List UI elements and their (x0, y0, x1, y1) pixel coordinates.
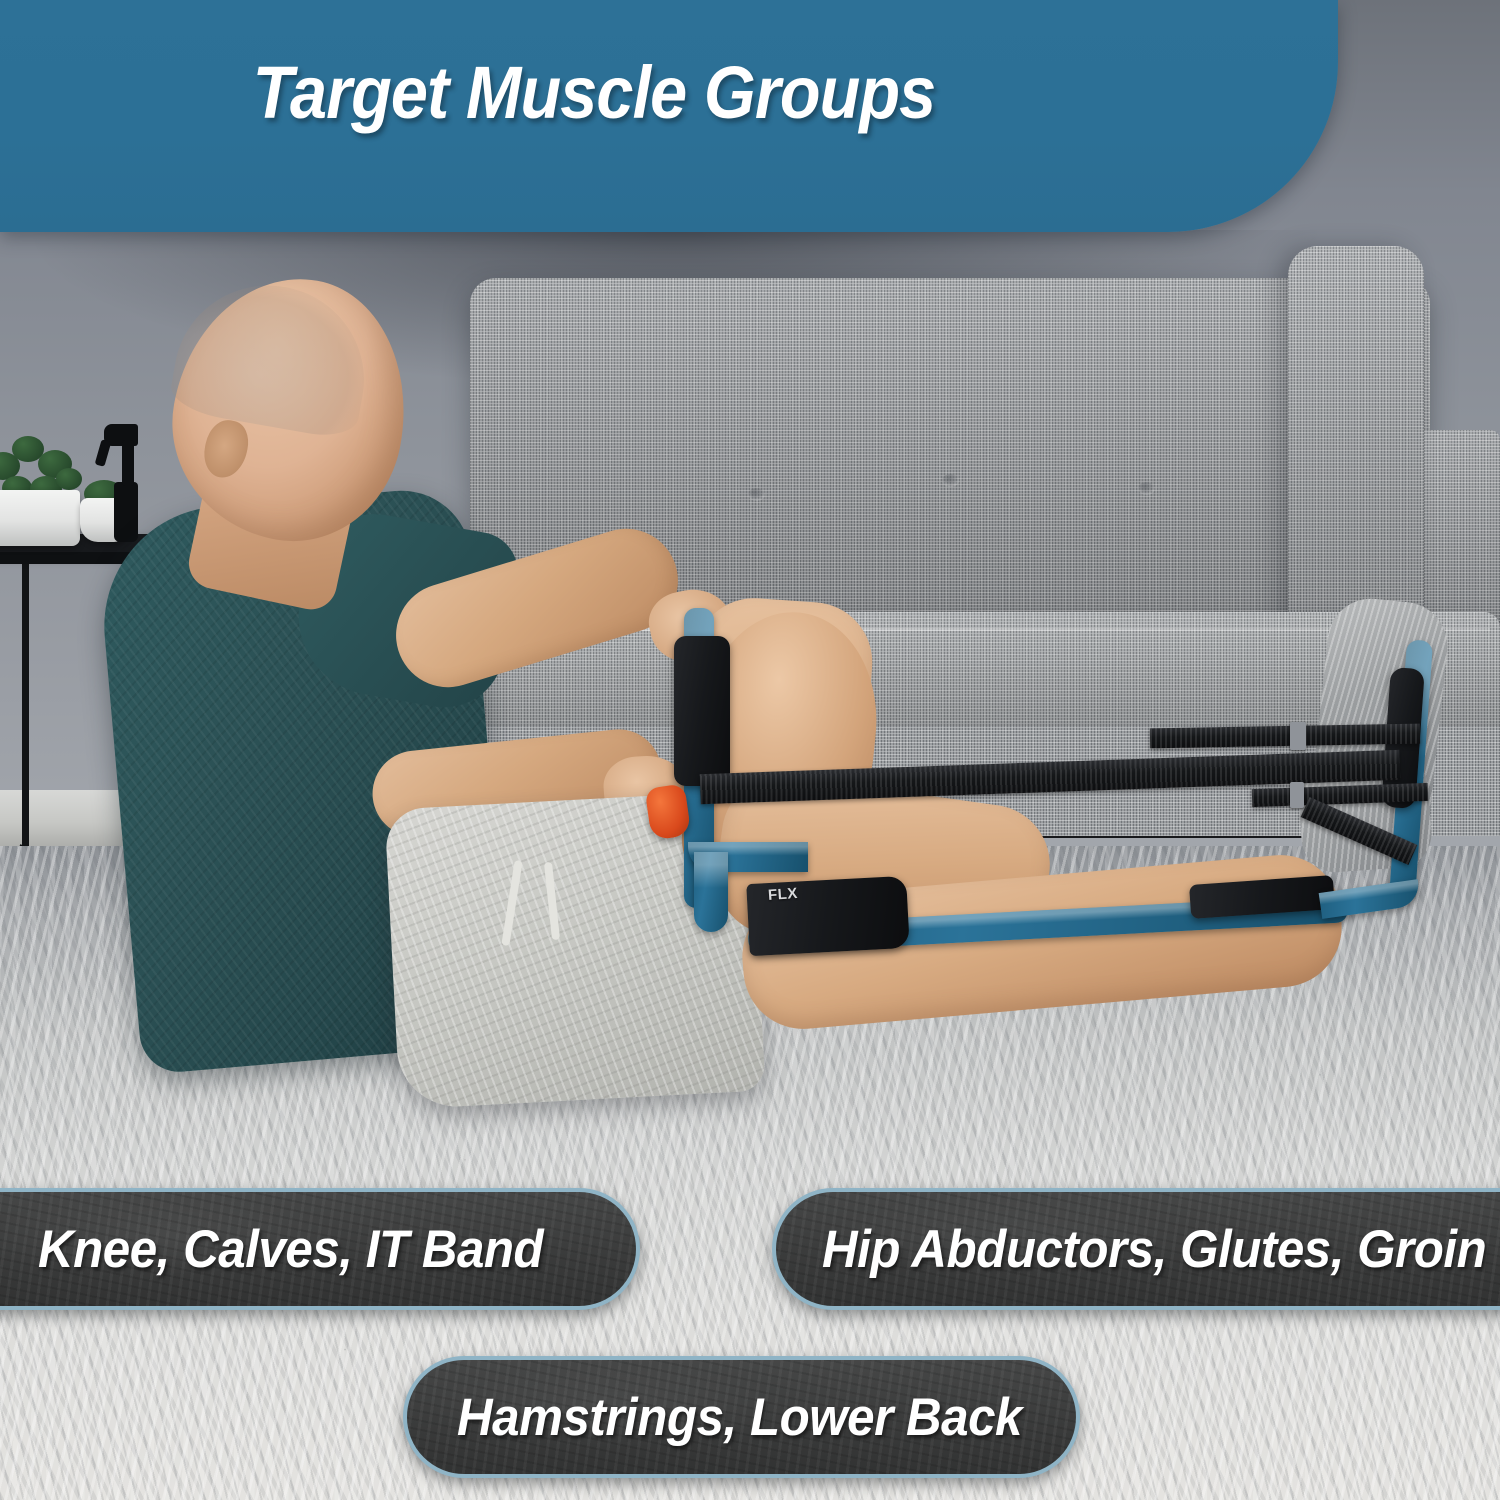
product-infographic: FLX Target Muscle Groups Knee, Calves, I… (0, 0, 1500, 1500)
device-corner-bend-b (694, 852, 728, 932)
planter-large (0, 490, 80, 546)
device-brand-mark: FLX (767, 885, 798, 904)
caption-pill-knee: Knee, Calves, IT Band (0, 1188, 640, 1310)
caption-label-knee: Knee, Calves, IT Band (38, 1219, 543, 1280)
device-upper-pad (674, 636, 730, 786)
page-title: Target Muscle Groups (59, 50, 1128, 135)
strap-buckle[interactable] (1290, 782, 1304, 808)
caption-label-hip: Hip Abductors, Glutes, Groin (822, 1219, 1486, 1280)
couch-tuft (1138, 482, 1155, 495)
strap-buckle[interactable] (1290, 722, 1306, 750)
table-leg-left (22, 556, 29, 886)
caption-label-hamstrings: Hamstrings, Lower Back (457, 1387, 1022, 1448)
caption-pill-hip: Hip Abductors, Glutes, Groin (772, 1188, 1500, 1310)
couch-tuft (748, 488, 765, 501)
couch-tuft (942, 474, 959, 487)
header-banner: Target Muscle Groups (0, 0, 1338, 232)
couch-armrest (1288, 246, 1424, 646)
caption-pill-hamstrings: Hamstrings, Lower Back (403, 1356, 1080, 1478)
